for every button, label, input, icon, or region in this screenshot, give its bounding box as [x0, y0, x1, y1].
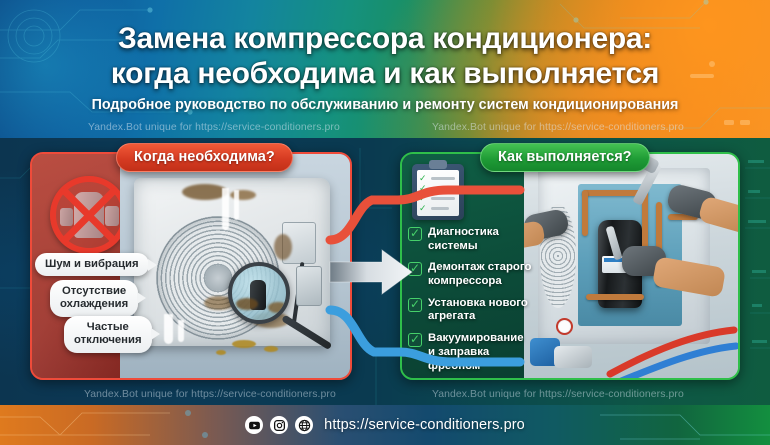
title-line-1: Замена компрессора кондиционера: — [118, 22, 652, 55]
watermark-top-left: Yandex.Bot unique for https://service-co… — [88, 122, 340, 133]
title-line-2: когда необходима и как выполняется — [0, 57, 770, 92]
checklist-item[interactable]: Диагностика системы — [408, 226, 540, 253]
checkbox-icon[interactable] — [408, 227, 422, 241]
watermark-bottom-right: Yandex.Bot unique for https://service-co… — [432, 389, 684, 400]
checkbox-icon[interactable] — [408, 262, 422, 276]
refrigerant-hoses-icon — [584, 324, 740, 378]
clipboard-check-icon: ✓ ✓ ✓ ✓ — [412, 164, 464, 220]
checkbox-icon[interactable] — [408, 333, 422, 347]
youtube-icon[interactable] — [245, 416, 263, 434]
page-subtitle: Подробное руководство по обслуживанию и … — [0, 97, 770, 113]
checklist-item-label: Демонтаж старого компрессора — [428, 261, 531, 288]
checklist-item-label: Установка нового агрегата — [428, 297, 528, 324]
symptom-bubble-3: Частые отключения — [64, 316, 152, 353]
globe-icon[interactable] — [295, 416, 313, 434]
pressure-gauge-icon — [556, 318, 573, 335]
checklist-item[interactable]: Демонтаж старого компрессора — [408, 261, 540, 288]
checklist-item[interactable]: Установка нового агрегата — [408, 297, 540, 324]
clipboard-page: ✓ ✓ ✓ ✓ — [417, 170, 459, 216]
magnifier-icon — [228, 262, 290, 324]
instagram-icon[interactable] — [270, 416, 288, 434]
header-banner: Замена компрессора кондиционера: когда н… — [0, 0, 770, 138]
checkbox-icon[interactable] — [408, 298, 422, 312]
symptom-bubble-2: Отсутствие охлаждения — [50, 280, 138, 317]
ac-junction-box — [296, 266, 322, 306]
ac-casing — [134, 178, 330, 346]
watermark-bottom-left: Yandex.Bot unique for https://service-co… — [84, 389, 336, 400]
no-compressor-icon — [50, 176, 128, 254]
watermark-top-right: Yandex.Bot unique for https://service-co… — [432, 122, 684, 133]
footer-bar: https://service-conditioners.pro — [0, 405, 770, 445]
checklist-item[interactable]: Вакуумирование и заправка фреоном — [408, 332, 540, 373]
compressor-repair-image — [524, 154, 740, 378]
infographic-root: Замена компрессора кондиционера: когда н… — [0, 0, 770, 445]
clipboard-clip — [429, 160, 447, 169]
checklist-item-label: Диагностика системы — [428, 226, 499, 253]
site-url-link[interactable]: https://service-conditioners.pro — [324, 417, 525, 433]
symptom-bubble-1: Шум и вибрация — [35, 253, 149, 276]
checklist-item-label: Вакуумирование и заправка фреоном — [428, 332, 524, 373]
repair-steps-checklist: Диагностика системы Демонтаж старого ком… — [408, 226, 540, 381]
badge-when-needed[interactable]: Когда необходима? — [116, 143, 293, 172]
page-title: Замена компрессора кондиционера: когда н… — [0, 22, 770, 92]
badge-how-done[interactable]: Как выполняется? — [480, 143, 650, 172]
